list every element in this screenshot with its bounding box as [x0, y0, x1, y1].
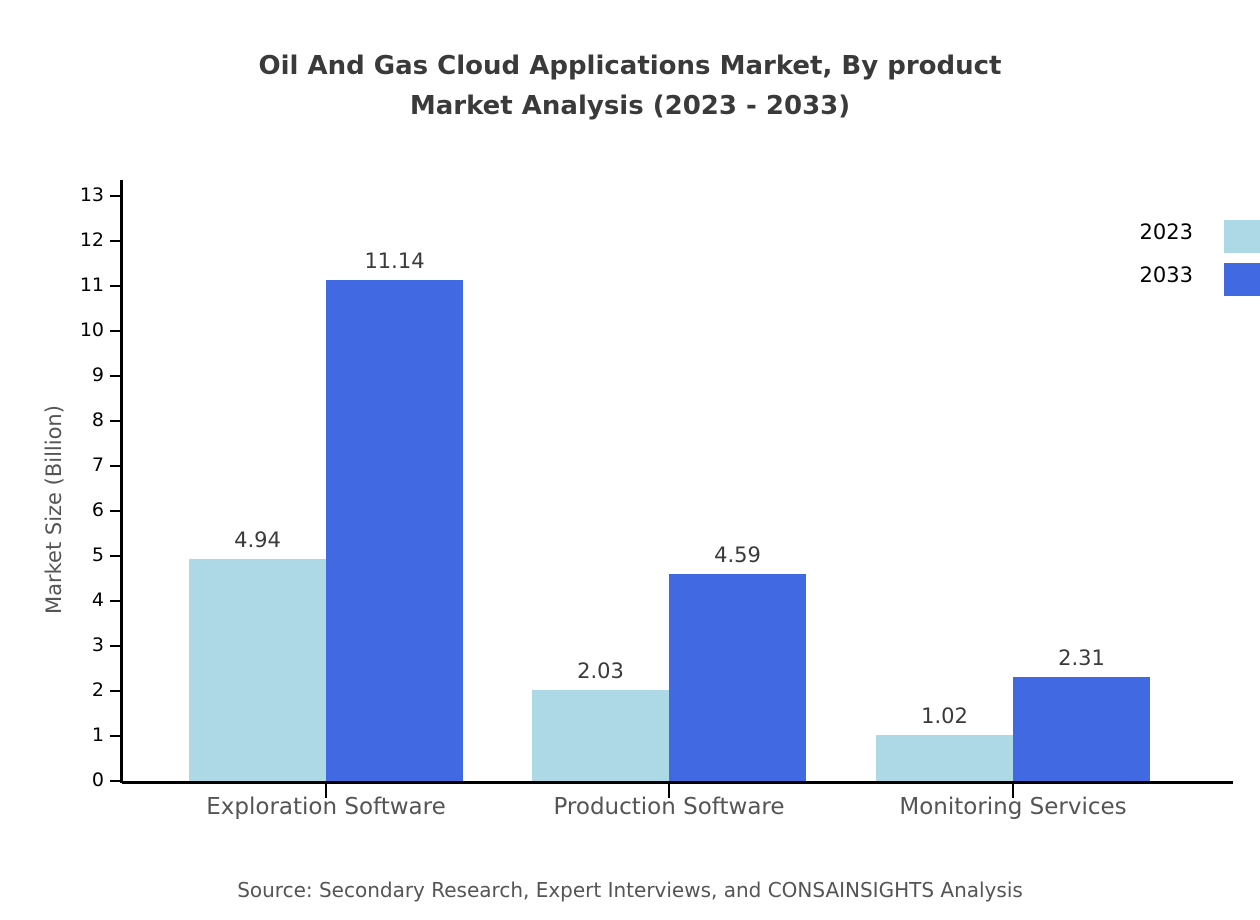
bar-value-label: 1.02 — [856, 704, 1033, 728]
legend-item-label: 2033 — [1140, 263, 1193, 287]
bar[interactable] — [669, 574, 806, 781]
y-axis-tick-label: 5 — [64, 546, 104, 565]
chart-title-line-1: Oil And Gas Cloud Applications Market, B… — [259, 51, 1002, 81]
legend-color-swatch — [1224, 263, 1260, 296]
bar-value-label: 11.14 — [306, 249, 483, 273]
y-axis-title: Market Size (Billion) — [42, 405, 66, 614]
y-axis-tick-label: 8 — [64, 411, 104, 430]
legend-item-label: 2023 — [1140, 220, 1193, 244]
source-note: Source: Secondary Research, Expert Inter… — [0, 878, 1260, 902]
legend: 20232033 — [1080, 214, 1260, 304]
y-axis-tick-label: 2 — [64, 681, 104, 700]
bar[interactable] — [876, 735, 1013, 781]
y-axis-tick-label: 1 — [64, 726, 104, 745]
y-axis-tick-mark — [110, 780, 122, 782]
y-axis-tick-mark — [110, 195, 122, 197]
chart-title-line-2: Market Analysis (2023 - 2033) — [0, 86, 1260, 126]
y-axis-tick-label: 11 — [64, 276, 104, 295]
bar-value-label: 4.94 — [169, 528, 346, 552]
x-axis-line — [122, 781, 1233, 784]
bar-value-label: 2.03 — [512, 659, 689, 683]
bar-value-label: 4.59 — [649, 543, 826, 567]
y-axis-tick-mark — [110, 240, 122, 242]
y-axis-tick-mark — [110, 555, 122, 557]
chart-title: Oil And Gas Cloud Applications Market, B… — [0, 46, 1260, 126]
y-axis-tick-mark — [110, 465, 122, 467]
y-axis-tick-mark — [110, 285, 122, 287]
y-axis-tick-mark — [110, 420, 122, 422]
y-axis-tick-label: 4 — [64, 591, 104, 610]
bar-chart: Oil And Gas Cloud Applications Market, B… — [0, 0, 1260, 920]
y-axis-tick-mark — [110, 510, 122, 512]
legend-item[interactable]: 2023 — [1080, 214, 1260, 248]
y-axis-tick-label: 9 — [64, 366, 104, 385]
y-axis-tick-mark — [110, 600, 122, 602]
y-axis-tick-mark — [110, 645, 122, 647]
x-axis-category-label: Exploration Software — [156, 794, 496, 820]
y-axis-tick-label: 3 — [64, 636, 104, 655]
y-axis-tick-label: 12 — [64, 231, 104, 250]
y-axis-tick-mark — [110, 330, 122, 332]
y-axis-tick-label: 13 — [64, 186, 104, 205]
y-axis-tick-label: 7 — [64, 456, 104, 475]
y-axis-tick-label: 10 — [64, 321, 104, 340]
x-axis-category-label: Monitoring Services — [843, 794, 1183, 820]
y-axis-tick-label: 6 — [64, 501, 104, 520]
y-axis-line — [120, 180, 123, 783]
legend-item[interactable]: 2033 — [1080, 257, 1260, 291]
y-axis-tick-label: 0 — [64, 771, 104, 790]
x-axis-category-label: Production Software — [499, 794, 839, 820]
bar-value-label: 2.31 — [993, 646, 1170, 670]
y-axis-tick-mark — [110, 375, 122, 377]
bar[interactable] — [1013, 677, 1150, 781]
bar[interactable] — [326, 280, 463, 781]
bar[interactable] — [189, 559, 326, 781]
legend-color-swatch — [1224, 220, 1260, 253]
bar[interactable] — [532, 690, 669, 781]
y-axis-tick-mark — [110, 690, 122, 692]
y-axis-tick-mark — [110, 735, 122, 737]
